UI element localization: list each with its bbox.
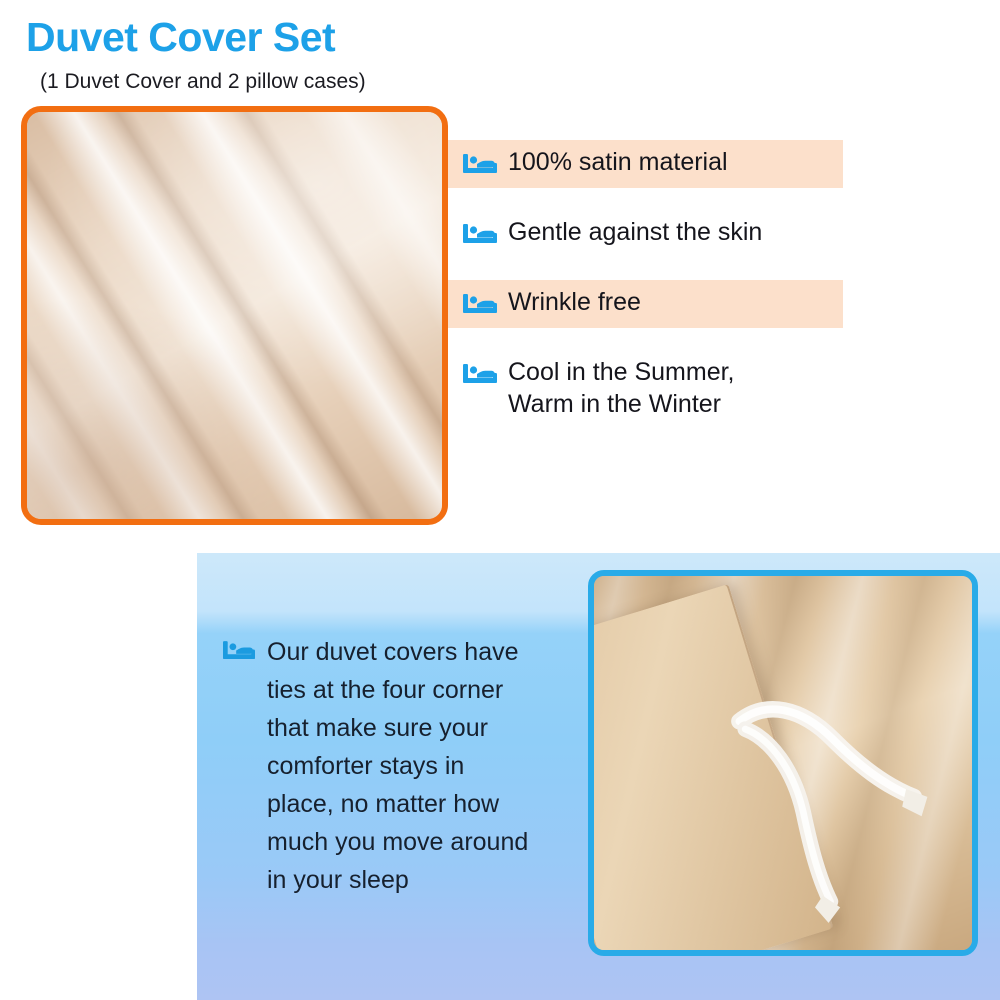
bed-icon: [458, 152, 502, 176]
feature-label: Gentle against the skin: [502, 216, 770, 248]
satin-fabric-sheen: [27, 112, 442, 519]
bed-icon: [458, 362, 502, 386]
page-title: Duvet Cover Set: [26, 16, 335, 59]
bed-icon: [458, 222, 502, 246]
feature-item-cool-warm: Cool in the Summer, Warm in the Winter: [448, 350, 1000, 428]
duvet-ties-photo: [588, 570, 978, 956]
page-subtitle: (1 Duvet Cover and 2 pillow cases): [40, 70, 366, 94]
ties-description-block: Our duvet covers have ties at the four c…: [219, 633, 589, 899]
bed-icon: [458, 292, 502, 316]
white-ribbon-ties: [594, 576, 972, 950]
feature-label: 100% satin material: [502, 146, 736, 178]
feature-label: Wrinkle free: [502, 286, 649, 318]
feature-label: Cool in the Summer, Warm in the Winter: [502, 356, 743, 420]
satin-fabric-photo: [21, 106, 448, 525]
feature-item-gentle-skin: Gentle against the skin: [448, 210, 1000, 258]
bed-icon: [219, 639, 259, 662]
infographic-root: Duvet Cover Set (1 Duvet Cover and 2 pil…: [0, 0, 1000, 1000]
feature-item-wrinkle-free: Wrinkle free: [448, 280, 843, 328]
ties-description-text: Our duvet covers have ties at the four c…: [259, 633, 528, 899]
feature-item-satin-material: 100% satin material: [448, 140, 843, 188]
feature-list: 100% satin material Gentle against the s…: [448, 140, 1000, 428]
